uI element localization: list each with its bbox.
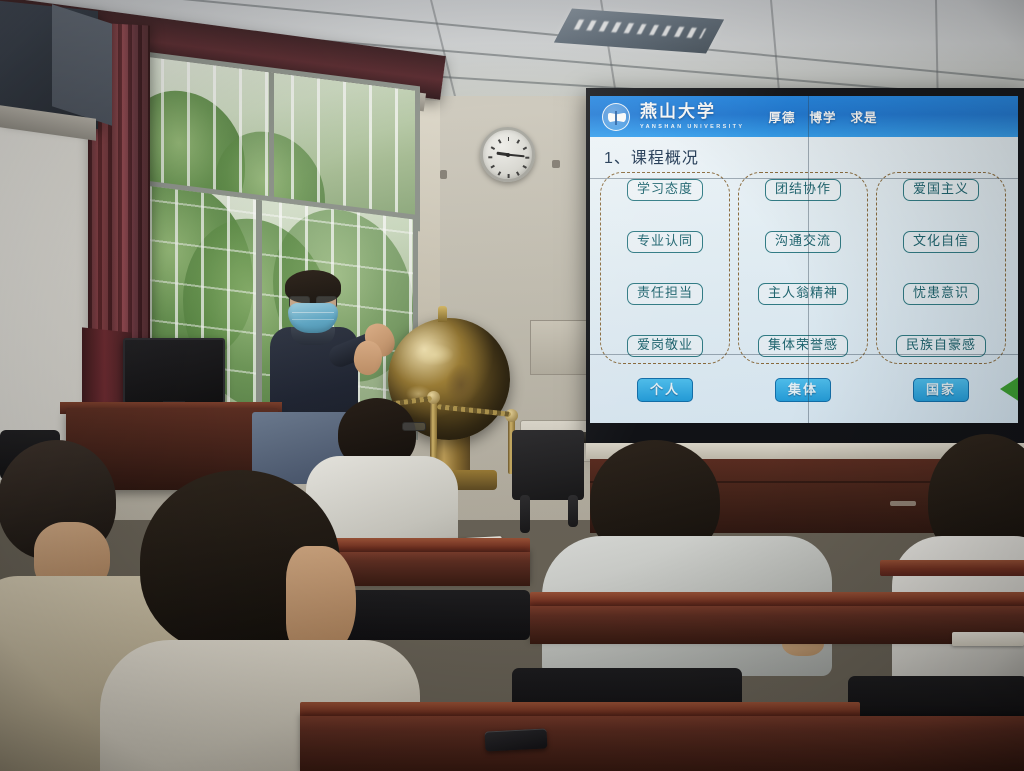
- footer-label-collective: 集体: [775, 378, 831, 402]
- slide-group-footers: 个人 集体 国家: [600, 378, 1006, 402]
- wall-panel: [530, 320, 592, 375]
- motto-word-2: 博学: [809, 107, 836, 126]
- globe-finial: [438, 306, 447, 322]
- classroom-presentation-scene: 燕山大学 YANSHAN UNIVERSITY 厚德 博学 求是 1、课程概况 …: [0, 0, 1024, 771]
- group-individual: 学习态度 专业认同 责任担当 爱岗敬业: [600, 172, 730, 364]
- footer-cell: 个人: [600, 378, 730, 402]
- pill-item: 忧患意识: [903, 283, 979, 305]
- window-mullion: [269, 72, 274, 208]
- wall-fixture: [552, 160, 560, 168]
- green-arrow-icon: [1000, 376, 1018, 402]
- clock-center-pin: [506, 153, 510, 157]
- wall-fixture: [440, 170, 447, 179]
- pill-item: 文化自信: [903, 231, 979, 253]
- motto-word-1: 厚德: [768, 107, 795, 126]
- pill-item: 爱国主义: [903, 179, 979, 201]
- chair-leg: [520, 495, 530, 533]
- smartphone-on-desk[interactable]: [485, 728, 548, 751]
- wall-clock: [480, 127, 535, 182]
- paper-sheet: [952, 632, 1024, 646]
- motto-word-3: 求是: [850, 107, 877, 126]
- videowall-seam-horizontal: [590, 178, 1018, 179]
- university-motto: 厚德 博学 求是: [768, 107, 877, 126]
- pill-item: 专业认同: [627, 231, 703, 253]
- videowall-seam-vertical: [808, 96, 809, 423]
- university-logo-icon: [602, 103, 630, 131]
- videowall-seam-horizontal: [590, 354, 1018, 355]
- slide-title: 1、课程概况: [604, 144, 699, 168]
- podium-monitor[interactable]: [123, 338, 225, 404]
- footer-label-nation: 国家: [913, 378, 969, 402]
- pill-item: 团结协作: [765, 179, 841, 201]
- group-collective: 团结协作 沟通交流 主人翁精神 集体荣誉感: [738, 172, 868, 364]
- desk: [300, 716, 1024, 771]
- presentation-screen[interactable]: 燕山大学 YANSHAN UNIVERSITY 厚德 博学 求是 1、课程概况 …: [586, 88, 1024, 445]
- group-nation: 爱国主义 文化自信 忧患意识 民族自豪感: [876, 172, 1006, 364]
- university-name-block: 燕山大学 YANSHAN UNIVERSITY: [640, 103, 744, 130]
- slide-column-groups: 学习态度 专业认同 责任担当 爱岗敬业 团结协作 沟通交流 主人翁精神 集体荣誉…: [600, 172, 1006, 364]
- pill-item: 沟通交流: [765, 231, 841, 253]
- slide-canvas: 燕山大学 YANSHAN UNIVERSITY 厚德 博学 求是 1、课程概况 …: [590, 96, 1018, 423]
- slide-header-bar: 燕山大学 YANSHAN UNIVERSITY 厚德 博学 求是: [590, 96, 1018, 137]
- pill-item: 主人翁精神: [758, 283, 848, 305]
- footer-label-individual: 个人: [637, 378, 693, 402]
- university-name-cn: 燕山大学: [640, 102, 716, 121]
- footer-cell: 集体: [738, 378, 868, 402]
- glasses-icon: [402, 422, 426, 431]
- wall-speaker-face: [52, 4, 112, 125]
- pill-item: 责任担当: [627, 283, 703, 305]
- footer-cell: 国家: [876, 378, 1006, 402]
- desk-surface: [880, 560, 1024, 576]
- pill-item: 学习态度: [627, 179, 703, 201]
- university-name-en: YANSHAN UNIVERSITY: [640, 124, 744, 130]
- desk: [530, 606, 1024, 644]
